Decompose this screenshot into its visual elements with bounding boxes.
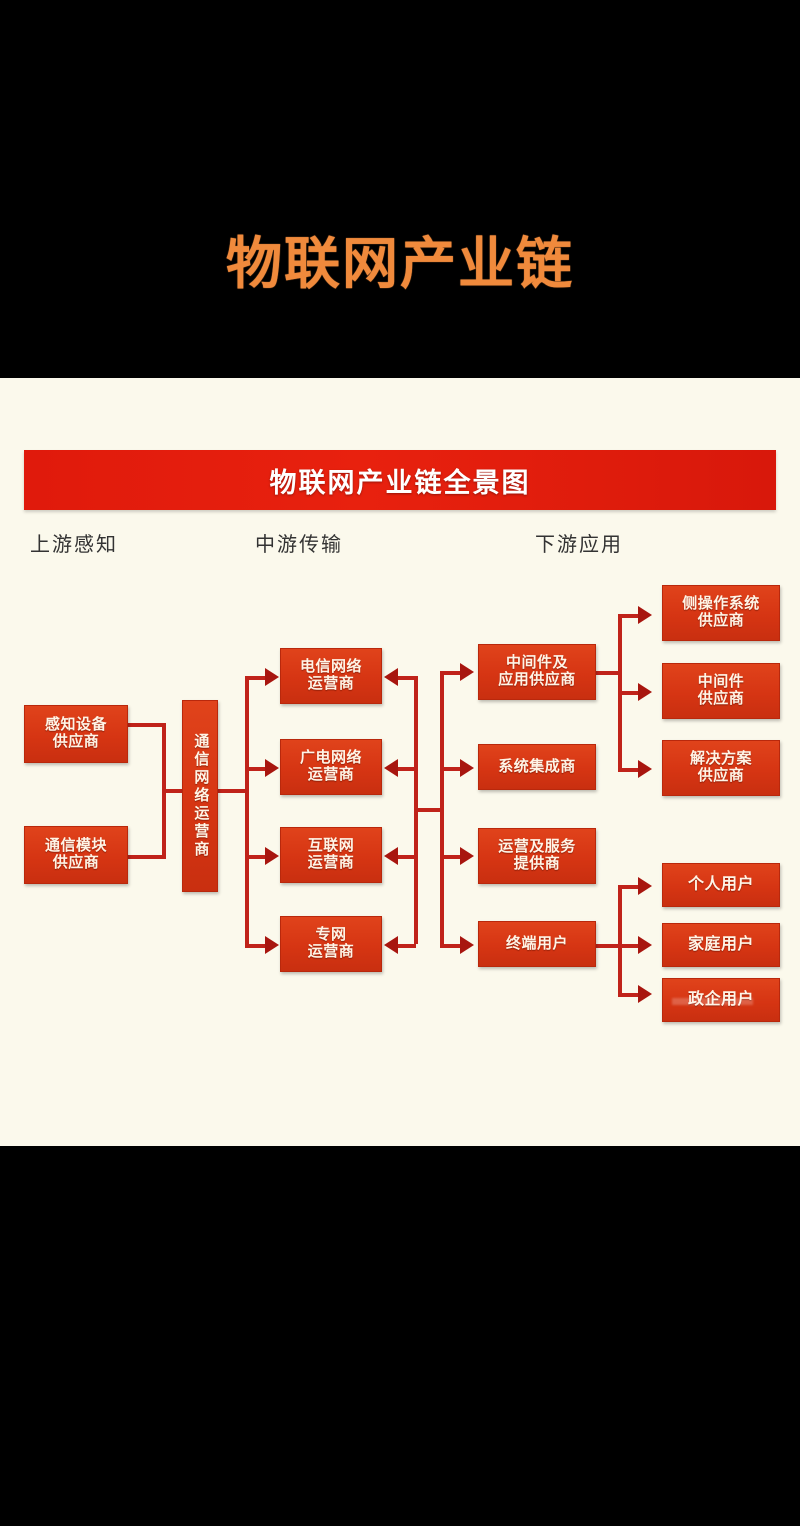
node-telecom-network-operator[interactable]: 电信网络 运营商 bbox=[280, 648, 382, 704]
connector-mid-fan-4 bbox=[245, 944, 267, 948]
connector-supplier-fan-2 bbox=[618, 691, 640, 695]
connector-app-fan-3 bbox=[440, 855, 462, 859]
connector-n2-out bbox=[128, 855, 166, 859]
connector-user-fan-2 bbox=[618, 944, 640, 948]
section-header-midstream: 中游传输 bbox=[255, 528, 343, 557]
connector-app-fan-2 bbox=[440, 767, 462, 771]
connector-user-fan-1 bbox=[618, 885, 640, 889]
connector-user-fan-bus bbox=[618, 885, 622, 995]
node-label: 运营及服务 提供商 bbox=[494, 839, 580, 873]
node-label: 解决方案 供应商 bbox=[686, 751, 756, 785]
node-system-integrator[interactable]: 系统集成商 bbox=[478, 744, 596, 790]
node-middleware-app-supplier[interactable]: 中间件及 应用供应商 bbox=[478, 644, 596, 700]
connector-return-2 bbox=[398, 767, 416, 771]
arrowhead-into-n7 bbox=[384, 936, 398, 954]
arrowhead-to-n10 bbox=[460, 847, 474, 865]
section-header-downstream: 下游应用 bbox=[535, 528, 623, 557]
node-sensing-device-supplier[interactable]: 感知设备 供应商 bbox=[24, 705, 128, 763]
arrowhead-to-n14 bbox=[638, 760, 652, 778]
arrowhead-to-n6 bbox=[265, 847, 279, 865]
diagram-panel: 物联网产业链全景图 上游感知 中游传输 下游应用 bbox=[0, 378, 800, 1146]
node-label: 专网 运营商 bbox=[304, 927, 359, 961]
connector-supplier-fan-1 bbox=[618, 614, 640, 618]
node-label: 中间件及 应用供应商 bbox=[494, 655, 580, 689]
arrowhead-to-n13 bbox=[638, 683, 652, 701]
arrowhead-to-n8 bbox=[460, 663, 474, 681]
connector-return-1 bbox=[398, 676, 416, 680]
node-label: 终端用户 bbox=[502, 936, 572, 953]
node-label: 电信网络 运营商 bbox=[296, 659, 366, 693]
diagram-banner-title: 物联网产业链全景图 bbox=[270, 461, 531, 500]
connector-user-fan-3 bbox=[618, 993, 640, 997]
node-label: 系统集成商 bbox=[494, 759, 580, 776]
page-root: 物联网产业链 物联网产业链全景图 上游感知 中游传输 下游应用 bbox=[0, 0, 800, 1526]
connector-app-fan-bus bbox=[440, 671, 444, 948]
node-internet-operator[interactable]: 互联网 运营商 bbox=[280, 827, 382, 883]
node-operation-service-provider[interactable]: 运营及服务 提供商 bbox=[478, 828, 596, 884]
connector-mid-fan-3 bbox=[245, 855, 267, 859]
node-label: 通信模块 供应商 bbox=[41, 838, 111, 872]
node-comm-network-operator[interactable]: 通信网络运营商 bbox=[182, 700, 218, 892]
node-private-network-operator[interactable]: 专网 运营商 bbox=[280, 916, 382, 972]
arrowhead-to-n12 bbox=[638, 606, 652, 624]
node-end-user[interactable]: 终端用户 bbox=[478, 921, 596, 967]
node-government-enterprise-user[interactable]: 政企用户 bbox=[662, 978, 780, 1022]
arrowhead-into-n5 bbox=[384, 759, 398, 777]
arrowhead-into-n6 bbox=[384, 847, 398, 865]
diagram-banner: 物联网产业链全景图 bbox=[24, 450, 776, 510]
connector-return-4 bbox=[398, 944, 416, 948]
node-label: 个人用户 bbox=[684, 876, 758, 894]
connector-mid-fan-1 bbox=[245, 676, 267, 680]
node-label: 政企用户 bbox=[684, 991, 758, 1009]
section-header-upstream: 上游感知 bbox=[30, 528, 118, 557]
arrowhead-to-n15 bbox=[638, 877, 652, 895]
connector-return-3 bbox=[398, 855, 416, 859]
node-label: 广电网络 运营商 bbox=[296, 750, 366, 784]
arrowhead-to-n17 bbox=[638, 985, 652, 1003]
node-personal-user[interactable]: 个人用户 bbox=[662, 863, 780, 907]
connector-supplier-fan-3 bbox=[618, 768, 640, 772]
node-label: 互联网 运营商 bbox=[304, 838, 359, 872]
node-os-supplier[interactable]: 侧操作系统 供应商 bbox=[662, 585, 780, 641]
connector-app-fan-1 bbox=[440, 671, 462, 675]
node-label: 家庭用户 bbox=[684, 936, 758, 954]
node-comm-module-supplier[interactable]: 通信模块 供应商 bbox=[24, 826, 128, 884]
arrowhead-to-n5 bbox=[265, 759, 279, 777]
arrowhead-to-n4 bbox=[265, 668, 279, 686]
node-label: 中间件 供应商 bbox=[694, 674, 749, 708]
node-label: 感知设备 供应商 bbox=[41, 717, 111, 751]
connector-n1-out bbox=[128, 723, 166, 727]
connector-mid-fan-2 bbox=[245, 767, 267, 771]
node-middleware-supplier[interactable]: 中间件 供应商 bbox=[662, 663, 780, 719]
node-label: 侧操作系统 供应商 bbox=[678, 596, 764, 630]
arrowhead-to-n16 bbox=[638, 936, 652, 954]
arrowhead-to-n11 bbox=[460, 936, 474, 954]
arrowhead-to-n7 bbox=[265, 936, 279, 954]
node-family-user[interactable]: 家庭用户 bbox=[662, 923, 780, 967]
node-solution-supplier[interactable]: 解决方案 供应商 bbox=[662, 740, 780, 796]
connector-app-fan-4 bbox=[440, 944, 462, 948]
node-label: 通信网络运营商 bbox=[188, 733, 213, 859]
arrowhead-to-n9 bbox=[460, 759, 474, 777]
node-broadcast-network-operator[interactable]: 广电网络 运营商 bbox=[280, 739, 382, 795]
arrowhead-into-n4 bbox=[384, 668, 398, 686]
page-title: 物联网产业链 bbox=[0, 236, 800, 292]
connector-mid-fan-bus bbox=[245, 676, 249, 946]
